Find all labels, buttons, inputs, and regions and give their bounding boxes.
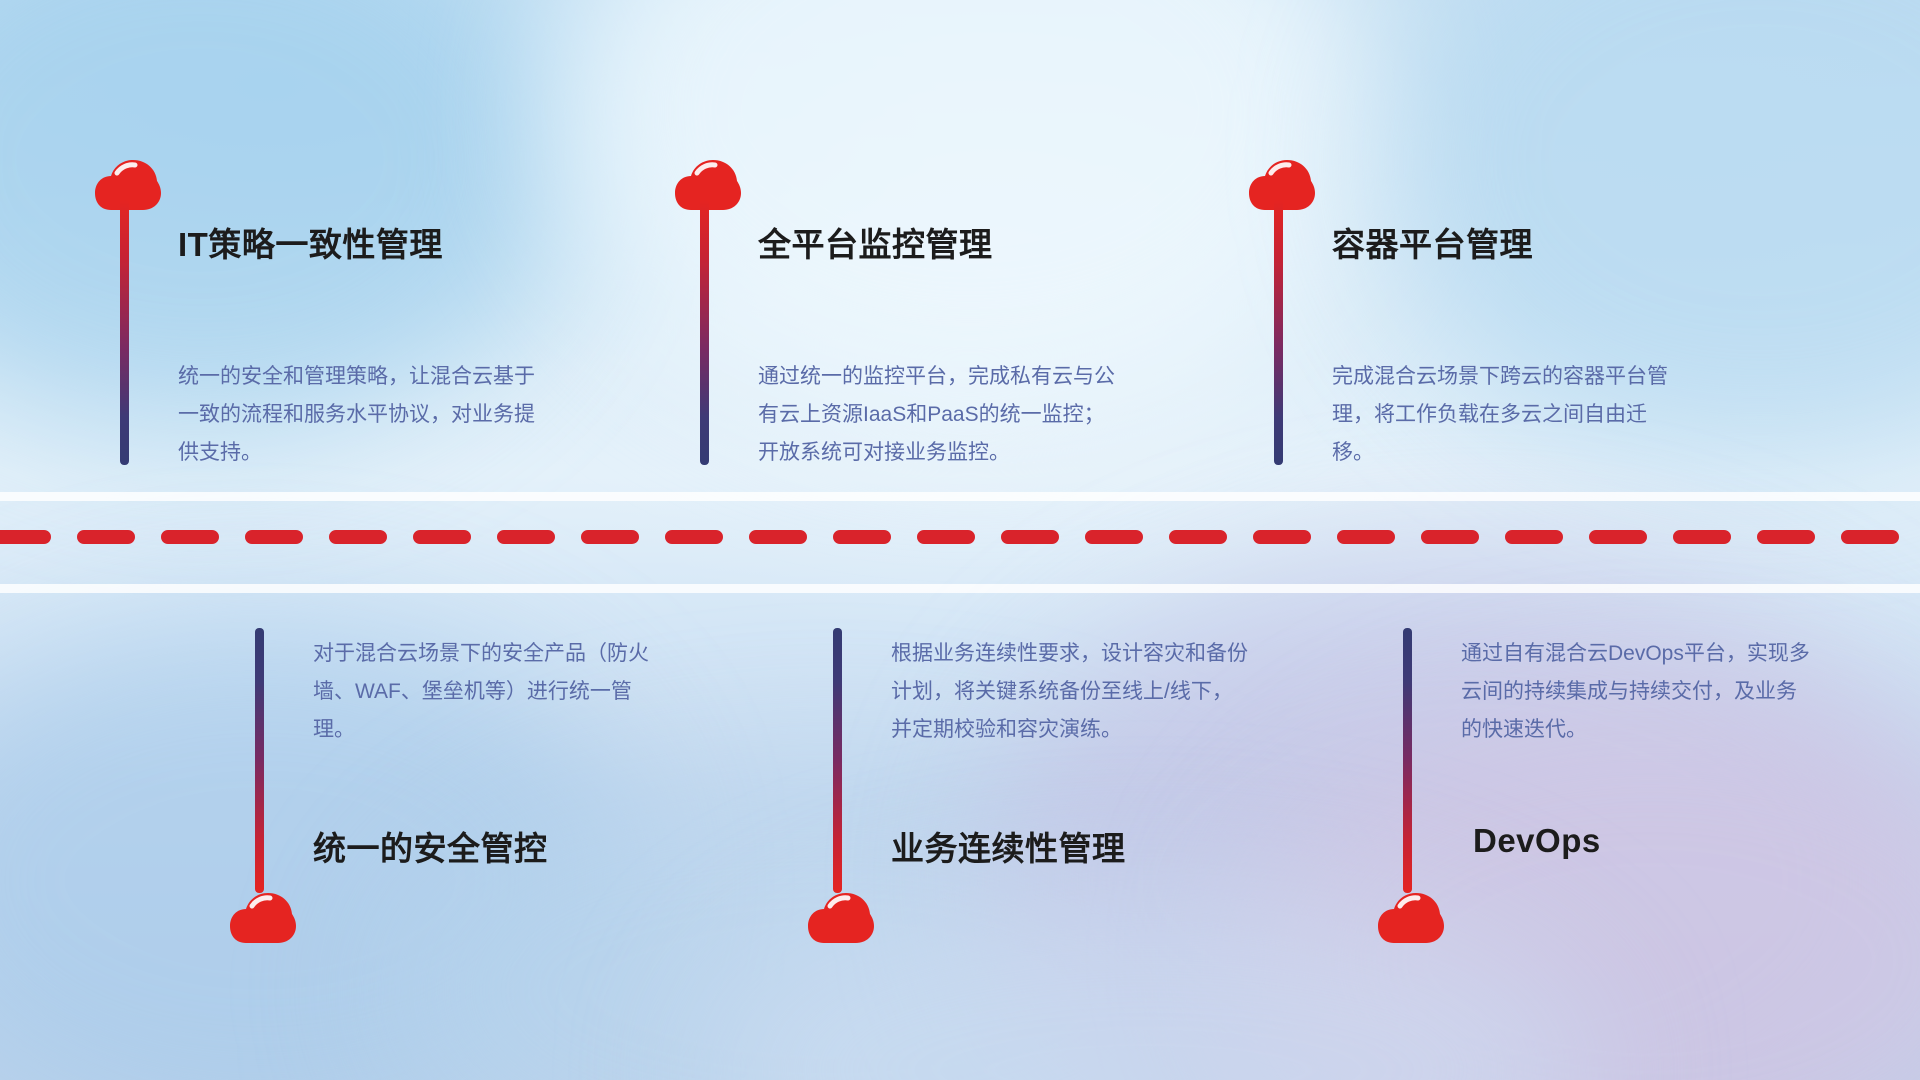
accent-bar	[1274, 200, 1283, 465]
column-description: 统一的安全和管理策略，让混合云基于一致的流程和服务水平协议，对业务提供支持。	[178, 358, 538, 472]
divider-band-bottom	[0, 584, 1920, 593]
column-heading: 统一的安全管控	[313, 822, 548, 870]
column-heading: 全平台监控管理	[758, 218, 993, 266]
column-heading: DevOps	[1473, 822, 1601, 860]
cloud-icon	[808, 893, 874, 945]
cloud-icon	[230, 893, 296, 945]
background-blob	[1240, 700, 1920, 1080]
column-heading: 业务连续性管理	[891, 822, 1126, 870]
infographic-canvas: IT策略一致性管理 统一的安全和管理策略，让混合云基于一致的流程和服务水平协议，…	[0, 0, 1920, 1080]
accent-bar	[833, 628, 842, 893]
section-divider	[0, 484, 1920, 604]
column-heading: IT策略一致性管理	[178, 218, 443, 266]
column-description: 完成混合云场景下跨云的容器平台管理，将工作负载在多云之间自由迁移。	[1332, 358, 1684, 472]
column-description: 通过统一的监控平台，完成私有云与公有云上资源IaaS和PaaS的统一监控；开放系…	[758, 358, 1118, 472]
accent-bar	[255, 628, 264, 893]
column-description: 对于混合云场景下的安全产品（防火墙、WAF、堡垒机等）进行统一管理。	[313, 635, 673, 749]
cloud-icon	[1378, 893, 1444, 945]
divider-band-top	[0, 492, 1920, 501]
column-description: 通过自有混合云DevOps平台，实现多云间的持续集成与持续交付，及业务的快速迭代…	[1461, 635, 1813, 749]
accent-bar	[120, 200, 129, 465]
accent-bar	[700, 200, 709, 465]
dashed-separator-line	[0, 530, 1920, 544]
column-heading: 容器平台管理	[1332, 218, 1533, 266]
accent-bar	[1403, 628, 1412, 893]
column-description: 根据业务连续性要求，设计容灾和备份计划，将关键系统备份至线上/线下，并定期校验和…	[891, 635, 1251, 749]
